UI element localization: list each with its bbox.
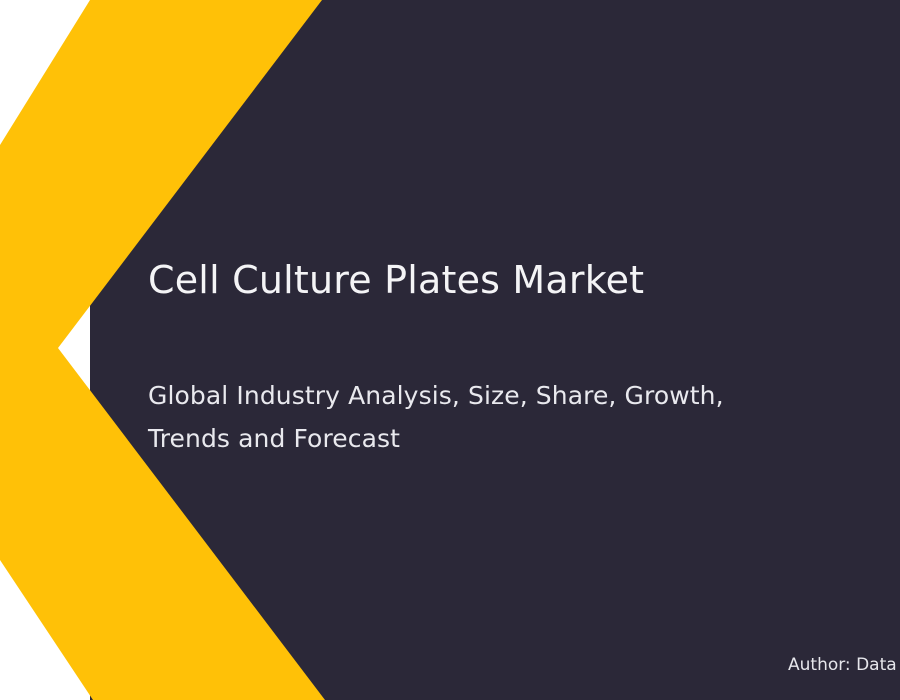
page-title: Cell Culture Plates Market <box>148 257 644 303</box>
slide-text-block: Cell Culture Plates Market Global Indust… <box>148 0 868 700</box>
author-label: Author: Data <box>788 653 897 677</box>
title-slide: Cell Culture Plates Market Global Indust… <box>0 0 900 700</box>
page-subtitle: Global Industry Analysis, Size, Share, G… <box>148 374 788 460</box>
